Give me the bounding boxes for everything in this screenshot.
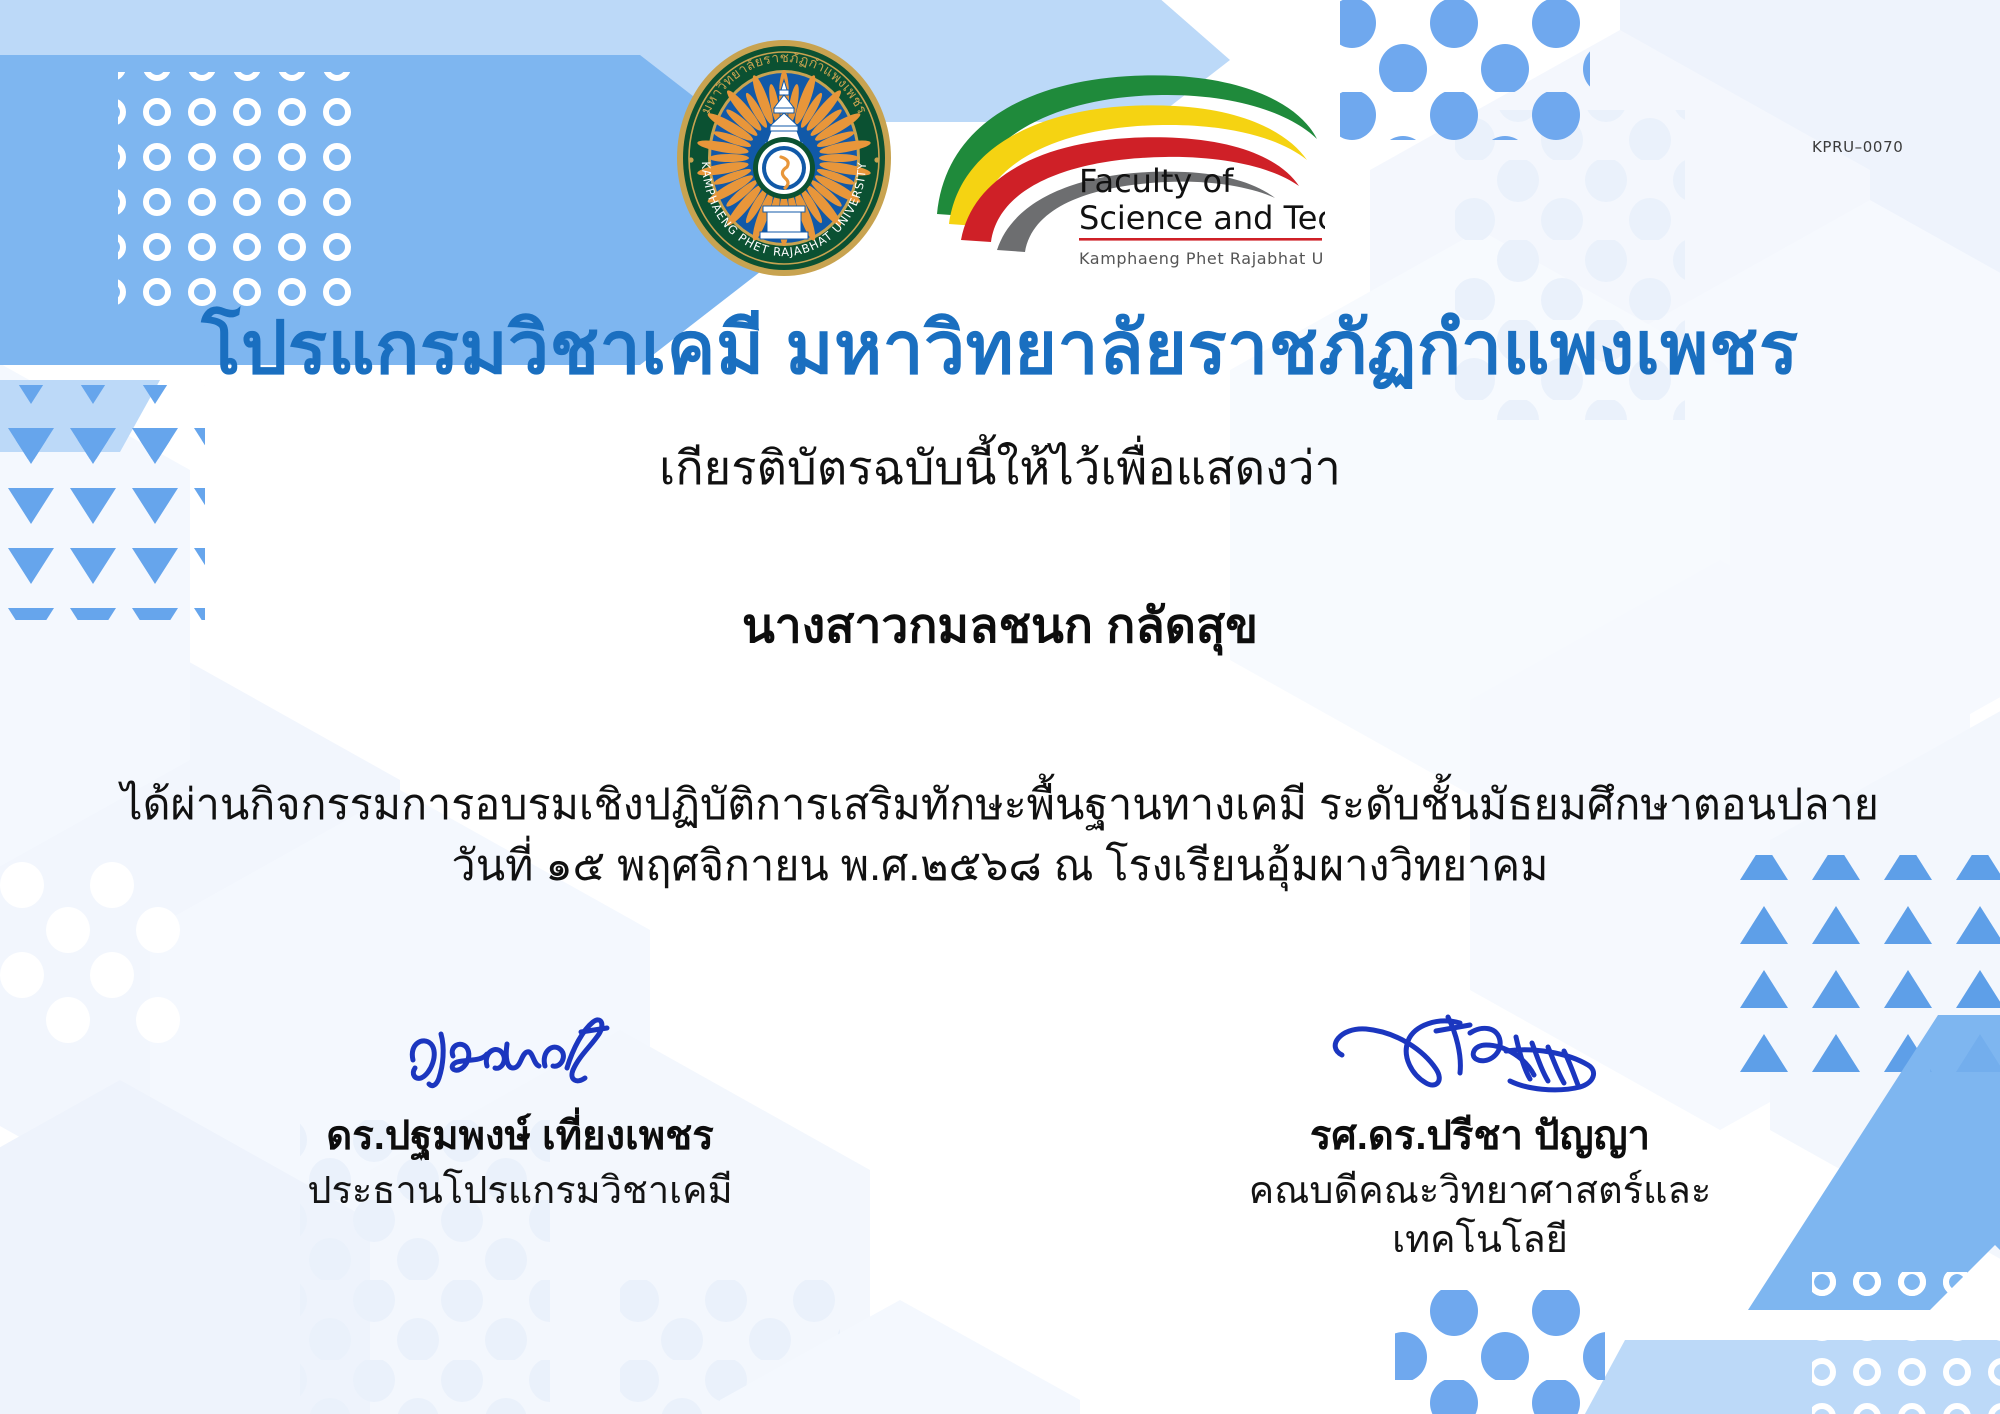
signature-row: ดร.ปฐมพงษ์ เที่ยงเพชร ประธานโปรแกรมวิชาเ… <box>0 1000 2000 1266</box>
page-title: โปรแกรมวิชาเคมี มหาวิทยาลัยราชภัฏกำแพงเพ… <box>0 308 2000 390</box>
signature-role-dean: คณบดีคณะวิทยาศาสตร์และเทคโนโลยี <box>1200 1167 1760 1266</box>
signature-ink-chair <box>240 1000 800 1115</box>
recipient-name: นางสาวกมลชนก กลัดสุข <box>0 598 2000 656</box>
svg-text:Kamphaeng Phet Rajabhat Univer: Kamphaeng Phet Rajabhat University <box>1079 249 1325 268</box>
certificate-page: KPRU–0070 <box>0 0 2000 1414</box>
body-line-1: ได้ผ่านกิจกรรมการอบรมเชิงปฏิบัติการเสริม… <box>0 775 2000 836</box>
handwritten-signature-icon <box>395 1008 645 1108</box>
signature-ink-dean <box>1200 1000 1760 1115</box>
svg-text:Science and Technology: Science and Technology <box>1079 199 1325 237</box>
body-line-2: วันที่ ๑๕ พฤศจิกายน พ.ศ.๒๕๖๘ ณ โรงเรียนอ… <box>0 836 2000 897</box>
signature-role-chair: ประธานโปรแกรมวิชาเคมี <box>240 1167 800 1216</box>
svg-text:Faculty of: Faculty of <box>1079 162 1234 200</box>
signature-name-chair: ดร.ปฐมพงษ์ เที่ยงเพชร <box>240 1111 800 1161</box>
signature-block-chair: ดร.ปฐมพงษ์ เที่ยงเพชร ประธานโปรแกรมวิชาเ… <box>240 1000 800 1266</box>
certificate-subtitle: เกียรติบัตรฉบับนี้ให้ไว้เพื่อแสดงว่า <box>0 440 2000 496</box>
kpru-university-seal-icon: มหาวิทยาลัยราชภัฏกำแพงเพชร KAMPHAENG PHE… <box>675 38 893 278</box>
certificate-body: ได้ผ่านกิจกรรมการอบรมเชิงปฏิบัติการเสริม… <box>0 775 2000 897</box>
signature-block-dean: รศ.ดร.ปรีชา ปัญญา คณบดีคณะวิทยาศาสตร์และ… <box>1200 1000 1760 1266</box>
handwritten-signature-icon <box>1320 1003 1640 1113</box>
logo-row: มหาวิทยาลัยราชภัฏกำแพงเพชร KAMPHAENG PHE… <box>0 38 2000 278</box>
signature-name-dean: รศ.ดร.ปรีชา ปัญญา <box>1200 1111 1760 1161</box>
faculty-of-science-and-technology-logo-icon: Faculty of Science and Technology Kampha… <box>927 64 1325 276</box>
